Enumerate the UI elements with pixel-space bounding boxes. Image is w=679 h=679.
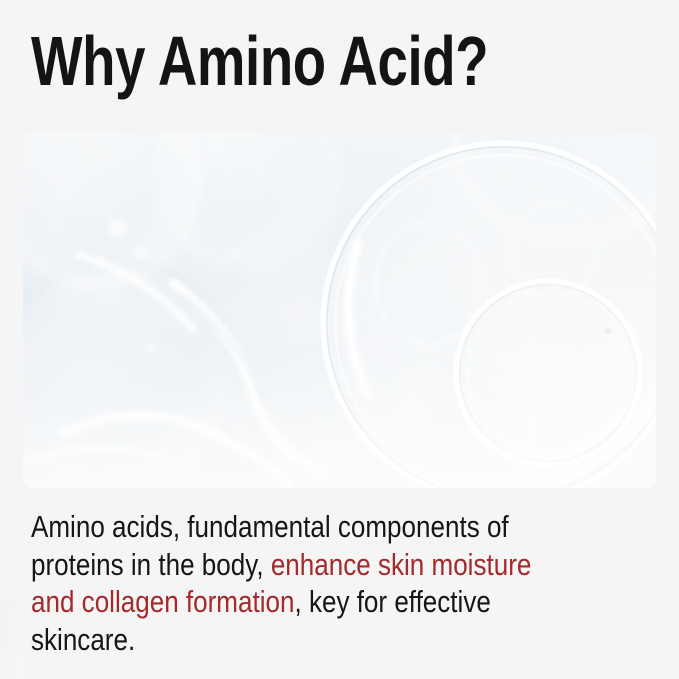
- page-title: Why Amino Acid?: [31, 22, 515, 100]
- bubble-gel-texture-image: [23, 133, 656, 488]
- hero-image: [23, 133, 656, 488]
- background-wash: [0, 600, 30, 679]
- promo-panel: Why Amino Acid?: [0, 0, 679, 679]
- body-text: Amino acids, fundamental components of p…: [31, 508, 535, 658]
